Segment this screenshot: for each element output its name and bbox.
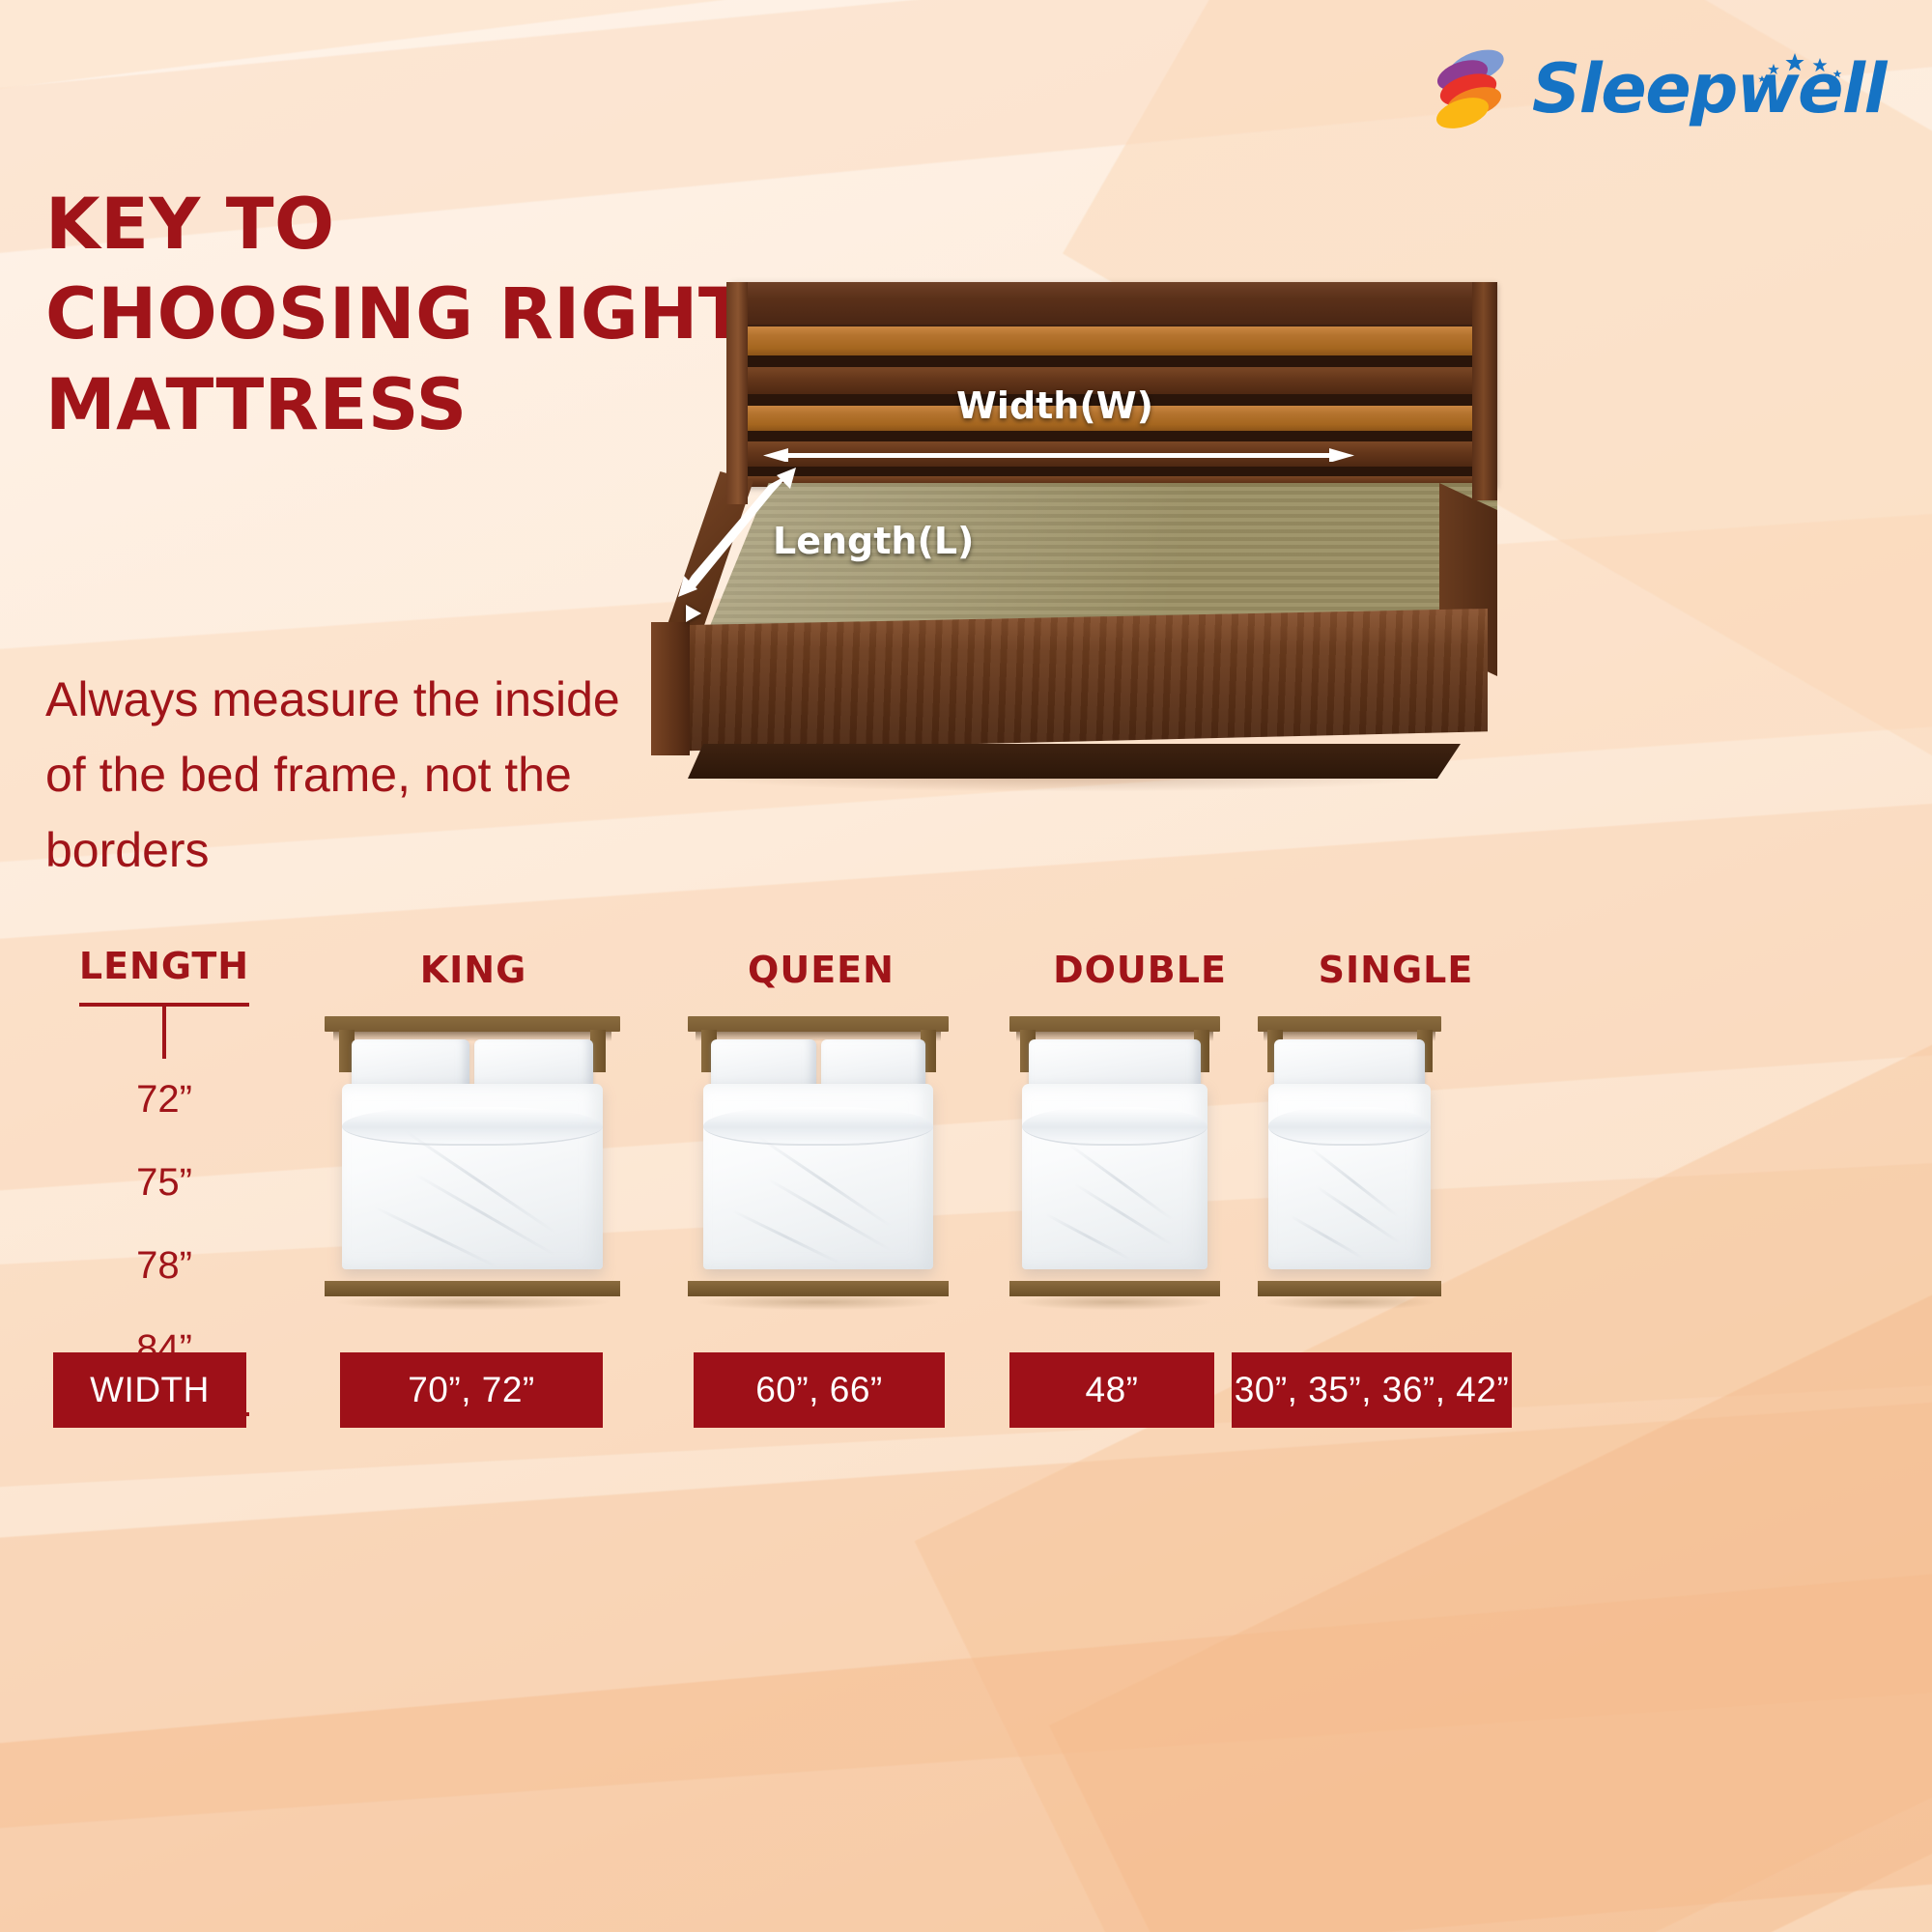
thumb-headboard [325,1016,620,1032]
width-value-double: 48” [1009,1352,1214,1428]
duvet-crease [1309,1146,1400,1217]
width-value-king: 70”, 72” [340,1352,603,1428]
thumb-headboard [688,1016,949,1032]
thumb-duvet [1268,1084,1430,1269]
length-value: 75” [53,1163,275,1202]
length-value: 72” [53,1080,275,1119]
thumb-headboard [1258,1016,1441,1032]
thumb-headboard [1009,1016,1220,1032]
column-title-king: KING [343,949,604,991]
duvet-fold [1022,1107,1207,1146]
bed-left-corner-post [651,622,690,755]
thumb-duvet [1022,1084,1207,1269]
bed-thumbnail-double [1009,1016,1220,1296]
length-values-list: 72” 75” 78” 84” [53,1080,275,1368]
infographic-page: Sleepwell KEY TO CHOOSING RIGHT MATTRESS… [0,0,1932,1932]
duvet-crease [1045,1213,1131,1261]
thumb-duvet [342,1084,602,1269]
length-value: 78” [53,1246,275,1285]
length-dimension-label: Length(L) [773,520,974,562]
width-dimension-label: Width(W) [956,384,1153,427]
thumb-duvet [703,1084,933,1269]
duvet-fold [1268,1107,1430,1146]
bed-plinth-base [688,744,1461,779]
stars-icon [1737,30,1853,65]
headline-line-1: KEY TO [45,180,722,270]
corner-marker-icon [686,605,701,622]
column-title-single: SINGLE [1265,949,1526,991]
length-scale-column: LENGTH 72” 75” 78” 84” [53,945,275,1416]
duvet-fold [703,1107,933,1146]
headboard-gap [732,431,1497,441]
headboard-gap [732,467,1497,476]
headboard-gap [732,355,1497,367]
sleepwell-s-icon [1428,43,1511,135]
width-value-single: 30”, 35”, 36”, 42” [1232,1352,1512,1428]
thumb-footboard-shadow [1018,1294,1212,1310]
thumb-footboard-shadow [1265,1294,1435,1310]
headboard-right-post [1472,282,1497,500]
mattress-size-chart: LENGTH 72” 75” 78” 84” KING QUEEN DOUBLE… [0,927,1932,1932]
bed-thumbnail-single [1258,1016,1441,1296]
column-title-queen: QUEEN [691,949,952,991]
brand-wordmark: Sleepwell [1532,55,1886,123]
length-scale-top-rule [79,1003,249,1007]
bed-thumbnail-king [325,1016,620,1296]
duvet-crease [1067,1143,1174,1221]
duvet-crease [732,1210,840,1265]
duvet-crease [1290,1215,1364,1260]
bed-thumbnail-queen [688,1016,949,1296]
duvet-fold [342,1107,602,1146]
width-arrow-icon [763,448,1354,462]
width-header-bar: WIDTH [53,1352,246,1428]
column-title-double: DOUBLE [1009,949,1270,991]
length-arrow-icon [676,468,802,597]
brand-logo: Sleepwell [1428,43,1886,135]
length-header-label: LENGTH [53,945,275,987]
duvet-crease [375,1207,497,1268]
thumb-footboard-shadow [336,1294,609,1310]
headboard-top-cap [732,282,1497,325]
width-value-queen: 60”, 66” [694,1352,945,1428]
page-subtitle: Always measure the inside of the bed fra… [45,662,664,888]
headboard-slat [732,327,1497,355]
thumb-footboard-shadow [698,1294,938,1310]
footboard-woodgrain [657,609,1488,752]
